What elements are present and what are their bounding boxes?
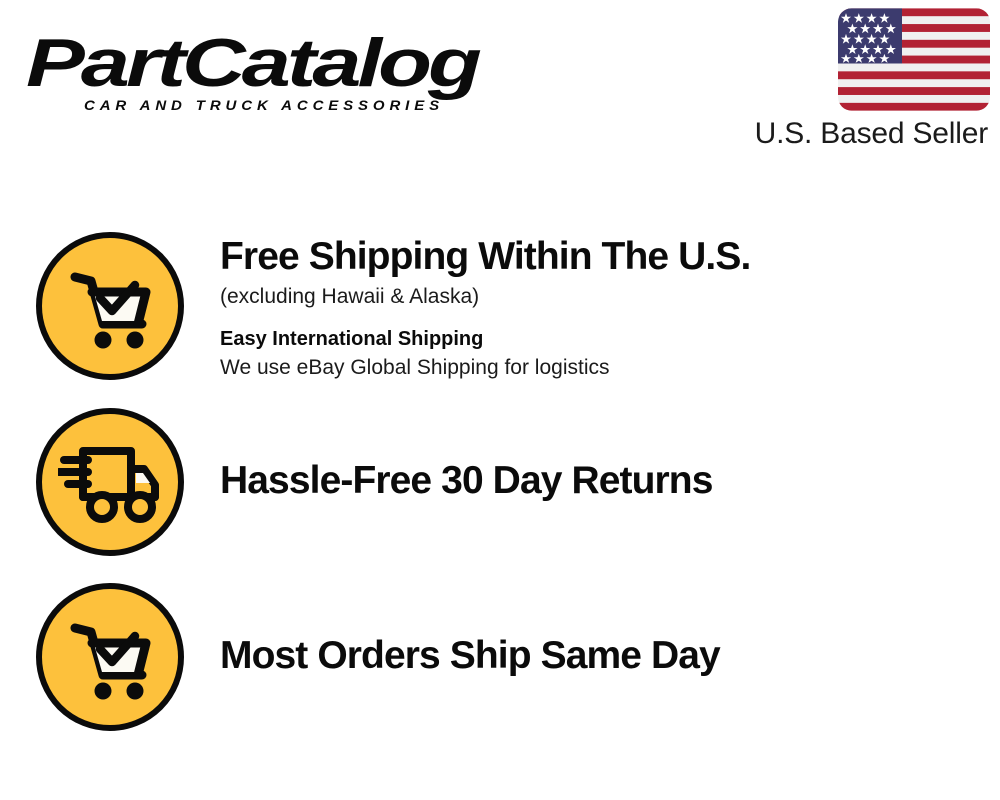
shopping-cart-check-icon (58, 609, 162, 705)
brand-tagline-text: CAR AND TRUCK ACCESSORIES (84, 98, 444, 113)
flag-wrapper (720, 8, 990, 111)
feature-badge (36, 232, 184, 380)
us-based-seller-label: U.S. Based Seller (720, 117, 990, 151)
feature-badge (36, 583, 184, 731)
feature-list: Free Shipping Within The U.S. (excluding… (0, 232, 1000, 743)
banner-header: PartCatalog CAR AND TRUCK ACCESSORIES (0, 0, 1000, 175)
feature-icon-cell (0, 232, 220, 380)
feature-row: Most Orders Ship Same Day (0, 583, 1000, 743)
feature-row: Free Shipping Within The U.S. (excluding… (0, 232, 1000, 408)
promo-banner: PartCatalog CAR AND TRUCK ACCESSORIES (0, 0, 1000, 800)
feature-title: Free Shipping Within The U.S. (220, 236, 1000, 277)
feature-secondary-title: Easy International Shipping (220, 327, 1000, 351)
partcatalog-wordmark-icon: PartCatalog CAR AND TRUCK ACCESSORIES (22, 18, 492, 113)
feature-icon-cell (0, 408, 220, 556)
feature-title: Hassle-Free 30 Day Returns (220, 460, 1000, 501)
feature-badge (36, 408, 184, 556)
feature-row: Hassle-Free 30 Day Returns (0, 408, 1000, 583)
delivery-truck-icon (58, 439, 162, 525)
feature-secondary-subtitle: We use eBay Global Shipping for logistic… (220, 355, 1000, 381)
feature-title: Most Orders Ship Same Day (220, 635, 1000, 676)
us-based-seller-block: U.S. Based Seller (720, 8, 990, 151)
shopping-cart-check-icon (58, 258, 162, 354)
feature-text-cell: Hassle-Free 30 Day Returns (220, 408, 1000, 501)
brand-name-text: PartCatalog (26, 25, 481, 101)
us-flag-icon (838, 8, 990, 111)
brand-logo: PartCatalog CAR AND TRUCK ACCESSORIES (22, 18, 492, 113)
feature-text-cell: Free Shipping Within The U.S. (excluding… (220, 232, 1000, 381)
feature-subtitle: (excluding Hawaii & Alaska) (220, 284, 1000, 310)
feature-icon-cell (0, 583, 220, 731)
feature-text-cell: Most Orders Ship Same Day (220, 583, 1000, 676)
